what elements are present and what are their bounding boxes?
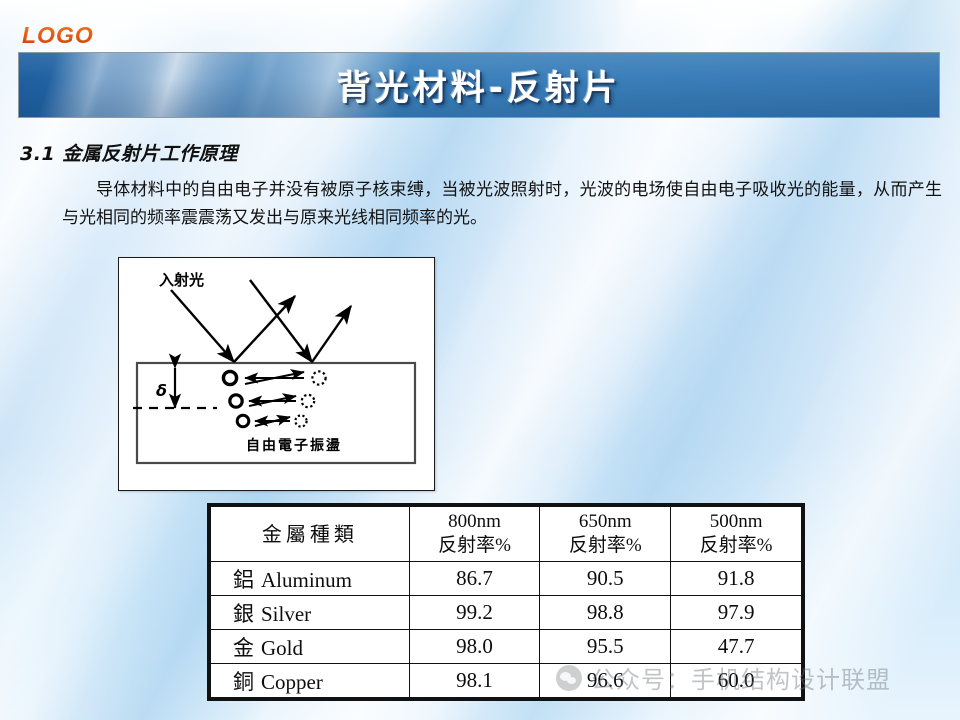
incident-light-label: 入射光 (159, 271, 204, 289)
table-row: 金Gold 98.0 95.5 47.7 (211, 630, 802, 664)
column-header-500nm-wave: 500nm (671, 510, 801, 534)
cell-metal-name: 金Gold (211, 630, 410, 664)
column-header-800nm-wave: 800nm (410, 510, 540, 534)
column-header-650nm-unit: 反射率% (540, 534, 670, 558)
column-header-metal: 金屬種類 (211, 507, 410, 562)
cell-650nm: 98.8 (540, 596, 671, 630)
cell-650nm: 90.5 (540, 562, 671, 596)
cell-metal-name: 銀Silver (211, 596, 410, 630)
diagram-caption: 自由電子振盪 (246, 437, 342, 454)
reflection-diagram: 入射光 δ (118, 257, 435, 491)
cell-800nm: 98.0 (409, 630, 540, 664)
reflected-ray-2 (312, 306, 351, 362)
page-title: 背光材料-反射片 (19, 61, 939, 110)
logo: LOGO (22, 22, 94, 49)
incident-ray-1 (171, 290, 234, 362)
slide-canvas: LOGO 背光材料-反射片 3.1 金属反射片工作原理 导体材料中的自由电子并没… (0, 0, 960, 720)
electron-pair-1 (223, 371, 325, 384)
table-header-row: 金屬種類 800nm 反射率% 650nm 反射率% 500nm 反射率% (211, 507, 802, 562)
table-header: 金屬種類 800nm 反射率% 650nm 反射率% 500nm 反射率% (211, 507, 802, 562)
table-row: 銅Copper 98.1 96.6 60.0 (211, 664, 802, 698)
electron-pair-2 (230, 395, 314, 407)
table-body: 鋁Aluminum 86.7 90.5 91.8 銀Silver 99.2 98… (211, 562, 802, 698)
electron-pair-3 (237, 415, 306, 427)
cell-500nm: 91.8 (671, 562, 802, 596)
cell-metal-name: 銅Copper (211, 664, 410, 698)
section-heading: 3.1 金属反射片工作原理 (20, 139, 238, 166)
table-row: 鋁Aluminum 86.7 90.5 91.8 (211, 562, 802, 596)
column-header-500nm: 500nm 反射率% (671, 507, 802, 562)
metal-name-cn: 銀 (233, 602, 254, 626)
reflectance-table: 金屬種類 800nm 反射率% 650nm 反射率% 500nm 反射率% (210, 506, 802, 698)
column-header-800nm: 800nm 反射率% (409, 507, 540, 562)
metal-name-en: Gold (261, 636, 303, 660)
cell-metal-name: 鋁Aluminum (211, 562, 410, 596)
table-row: 銀Silver 99.2 98.8 97.9 (211, 596, 802, 630)
thickness-label: δ (156, 381, 167, 400)
cell-800nm: 98.1 (409, 664, 540, 698)
metal-name-cn: 金 (233, 636, 254, 660)
title-banner: 背光材料-反射片 (18, 52, 940, 118)
metal-name-en: Copper (261, 670, 323, 694)
metal-name-cn: 鋁 (233, 568, 254, 592)
cell-800nm: 99.2 (409, 596, 540, 630)
column-header-500nm-unit: 反射率% (671, 534, 801, 558)
reflectance-table-container: 金屬種類 800nm 反射率% 650nm 反射率% 500nm 反射率% (207, 503, 805, 701)
metal-name-en: Silver (261, 602, 311, 626)
cell-800nm: 86.7 (409, 562, 540, 596)
column-header-650nm: 650nm 反射率% (540, 507, 671, 562)
cell-500nm: 97.9 (671, 596, 802, 630)
incident-ray-2 (250, 280, 312, 362)
body-paragraph: 导体材料中的自由电子并没有被原子核束缚，当被光波照射时，光波的电场使自由电子吸收… (62, 176, 942, 232)
metal-name-cn: 銅 (233, 670, 254, 694)
cell-650nm: 96.6 (540, 664, 671, 698)
cell-500nm: 47.7 (671, 630, 802, 664)
column-header-650nm-wave: 650nm (540, 510, 670, 534)
column-header-800nm-unit: 反射率% (410, 534, 540, 558)
metal-name-en: Aluminum (261, 568, 352, 592)
cell-500nm: 60.0 (671, 664, 802, 698)
cell-650nm: 95.5 (540, 630, 671, 664)
